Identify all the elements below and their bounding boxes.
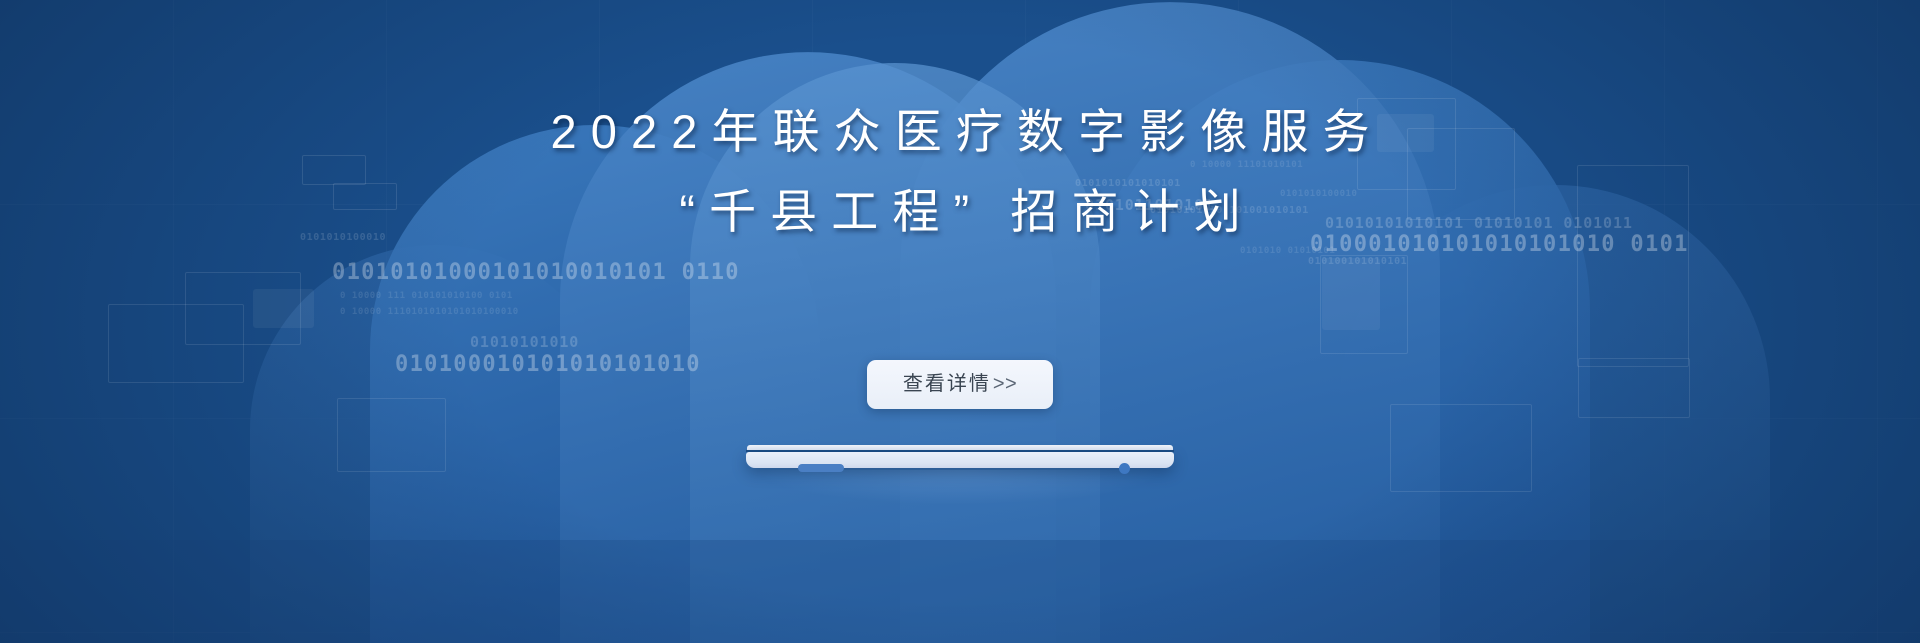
double-chevron-right-icon: >>	[993, 373, 1017, 395]
headline-line-2: “千县工程” 招商计划	[0, 172, 1920, 252]
decor-rectangle	[1390, 404, 1532, 492]
decor-rectangle	[337, 398, 446, 472]
cta-container: 查看详情>>	[0, 360, 1920, 409]
laptop-notch-indicator	[798, 464, 844, 472]
decor-filled-square	[253, 289, 314, 328]
laptop-screen-glow	[760, 470, 1160, 504]
binary-code-text: 010100101010101	[1308, 256, 1407, 267]
laptop-body	[746, 452, 1174, 468]
decor-filled-square	[1322, 258, 1380, 330]
binary-code-text: 0 10000 111 010101010100 0101	[340, 291, 513, 301]
headline-line-1: 2022年联众医疗数字影像服务	[0, 92, 1920, 172]
laptop-base	[746, 445, 1174, 471]
promo-banner: 01010101000101010010101 01100 10000 111 …	[0, 0, 1920, 643]
headline-block: 2022年联众医疗数字影像服务 “千县工程” 招商计划	[0, 92, 1920, 252]
binary-code-text: 01010101010	[470, 333, 579, 351]
view-details-label: 查看详情	[903, 373, 991, 395]
binary-code-text: 01010101000101010010101 0110	[332, 260, 740, 285]
binary-code-text: 0 10000 1110101010101010100010	[340, 307, 519, 317]
laptop-power-dot-icon	[1119, 463, 1130, 474]
view-details-button[interactable]: 查看详情>>	[867, 360, 1053, 409]
